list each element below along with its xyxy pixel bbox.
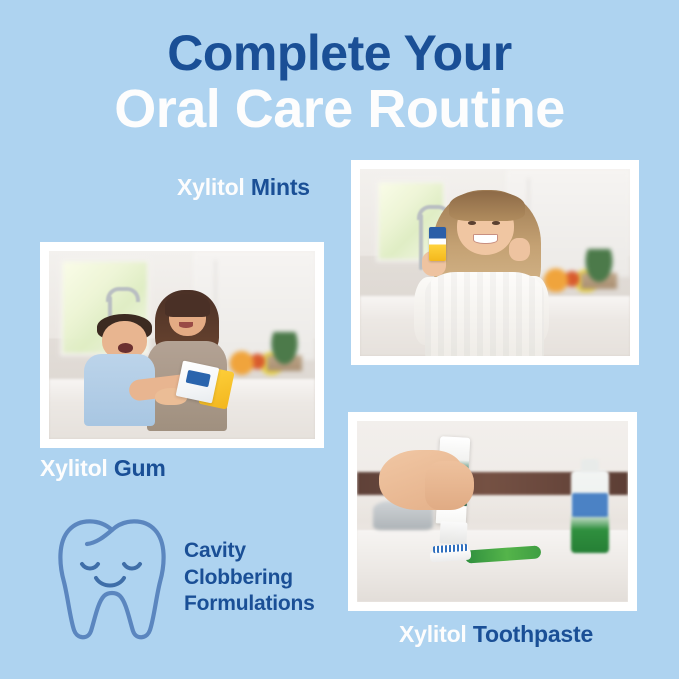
girl-smile [473, 234, 497, 243]
photo-mints[interactable] [351, 160, 639, 365]
label-gum-product: Gum [114, 455, 166, 481]
headline-line-2: Oral Care Routine [0, 82, 679, 136]
label-toothpaste-product: Toothpaste [473, 621, 593, 647]
plant-layer [581, 249, 616, 288]
label-xylitol-gum: Xylitol Gum [40, 455, 166, 482]
girl-sweater [425, 272, 544, 356]
boy-open-mouth [118, 343, 133, 352]
label-gum-brand: Xylitol [40, 455, 108, 481]
photo-toothpaste-image [357, 421, 628, 602]
photo-mints-image [360, 169, 630, 356]
plant-layer [267, 332, 302, 371]
headline-line-1: Complete Your [0, 28, 679, 82]
toothpaste-scene [357, 421, 628, 602]
cavity-clobbering-badge: Cavity Clobbering Formulations [56, 512, 346, 644]
badge-caption-line-3: Formulations [184, 591, 315, 618]
label-xylitol-mints: Xylitol Mints [177, 174, 310, 201]
photo-toothpaste[interactable] [348, 412, 637, 611]
badge-caption-line-2: Clobbering [184, 565, 315, 592]
label-toothpaste-brand: Xylitol [399, 621, 467, 647]
photo-gum[interactable] [40, 242, 324, 448]
label-mints-brand: Xylitol [177, 174, 245, 200]
mouthwash-label [572, 493, 607, 517]
girl-right-hand [509, 238, 531, 260]
page-title: Complete Your Oral Care Routine [0, 28, 679, 136]
label-mints-product: Mints [251, 174, 310, 200]
smiling-tooth-icon [56, 514, 168, 642]
promo-graphic: Complete Your Oral Care Routine [0, 0, 679, 679]
mother-hair-front [165, 294, 210, 317]
label-xylitol-toothpaste: Xylitol Toothpaste [399, 621, 593, 648]
toothpaste-cap [439, 522, 467, 545]
badge-caption-line-1: Cavity [184, 538, 315, 565]
photo-gum-image [49, 251, 315, 439]
mints-scene [360, 169, 630, 356]
mother-smile [179, 322, 192, 328]
right-hand-fingers [425, 461, 474, 510]
girl-hair-top [449, 191, 525, 221]
gum-package [176, 360, 220, 403]
badge-caption: Cavity Clobbering Formulations [184, 538, 315, 619]
gum-scene [49, 251, 315, 439]
mints-tube-product [429, 227, 447, 261]
